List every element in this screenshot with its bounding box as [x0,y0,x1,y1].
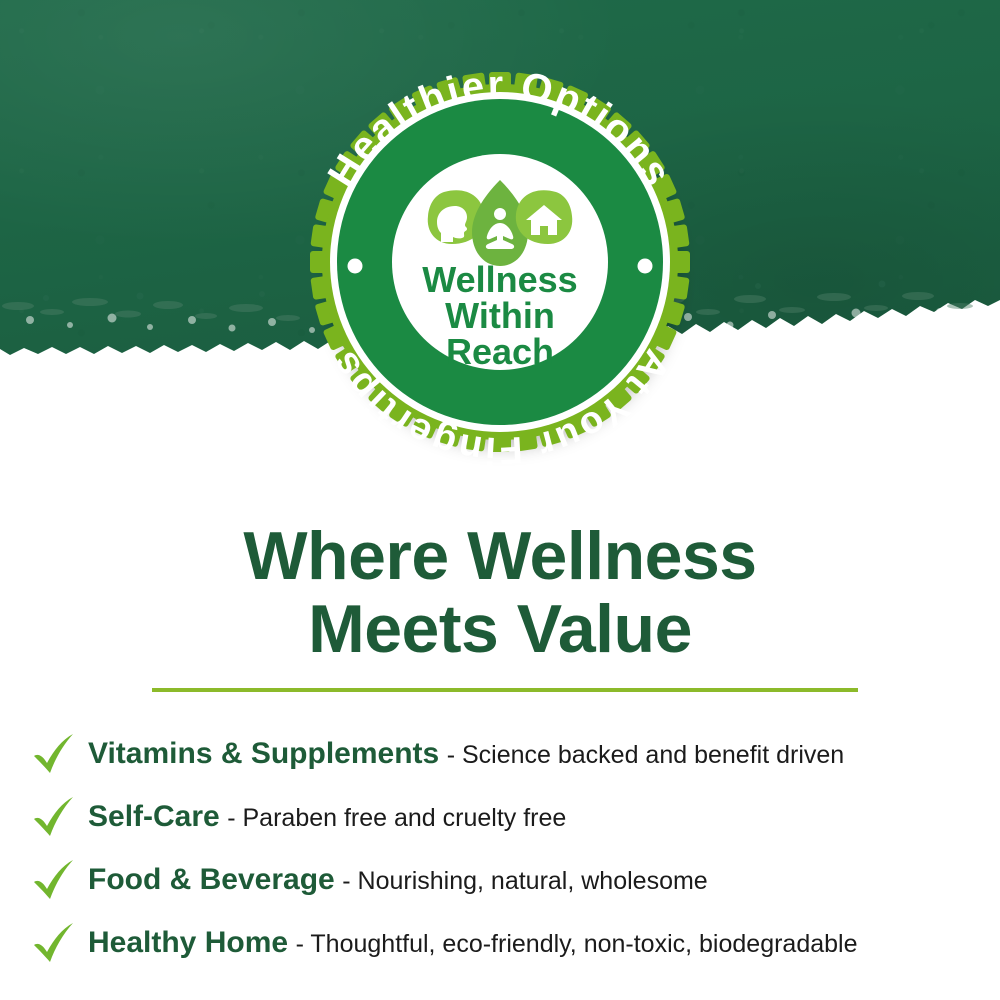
check-icon [30,732,76,776]
list-item-text: Vitamins & Supplements - Science backed … [88,737,844,771]
list-item: Vitamins & Supplements - Science backed … [30,722,990,785]
list-item: Self-Care - Paraben free and cruelty fre… [30,785,990,848]
promo-banner-page: Healthier Options At Your Fingertips [0,0,1000,1000]
list-item-title: Healthy Home [88,926,288,959]
check-icon [30,858,76,902]
check-icon [30,795,76,839]
badge-line-3: Reach [446,331,554,372]
list-item-title: Food & Beverage [88,863,335,896]
badge-line-1: Wellness [422,259,577,300]
list-item-text: Food & Beverage - Nourishing, natural, w… [88,863,708,897]
house-leaf-icon [516,190,572,244]
wellness-within-reach-badge: Healthier Options At Your Fingertips [296,80,704,444]
list-item-desc: - Thoughtful, eco-friendly, non-toxic, b… [296,930,858,958]
feature-list: Vitamins & Supplements - Science backed … [30,722,990,974]
list-item-title: Vitamins & Supplements [88,737,439,770]
title-divider [152,688,858,692]
badge-dot-left [348,259,363,274]
badge-line-2: Within [445,295,555,336]
list-item-desc: - Science backed and benefit driven [447,741,844,769]
page-title: Where Wellness Meets Value [0,520,1000,667]
list-item-desc: - Paraben free and cruelty free [227,804,566,832]
list-item: Food & Beverage - Nourishing, natural, w… [30,848,990,911]
check-icon [30,921,76,965]
list-item-text: Healthy Home - Thoughtful, eco-friendly,… [88,926,858,960]
headline-line-2: Meets Value [0,593,1000,666]
list-item-text: Self-Care - Paraben free and cruelty fre… [88,800,566,834]
list-item-title: Self-Care [88,800,220,833]
list-item-desc: - Nourishing, natural, wholesome [342,867,707,895]
headline-line-1: Where Wellness [243,518,756,594]
badge-dot-right [638,259,653,274]
list-item: Healthy Home - Thoughtful, eco-friendly,… [30,911,990,974]
